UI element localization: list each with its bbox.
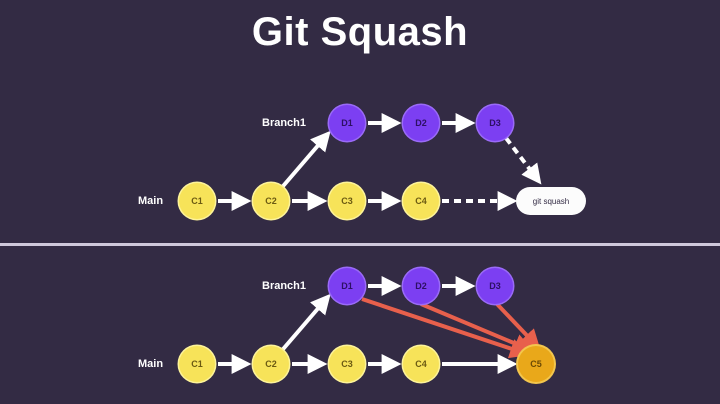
- node-label: D2: [415, 281, 427, 291]
- edge-c2-d1-after: [278, 298, 327, 355]
- edge-c2-d1: [278, 135, 327, 192]
- node-label: D1: [341, 118, 353, 128]
- node-d2-before[interactable]: D2: [403, 105, 439, 141]
- node-c4-before[interactable]: C4: [403, 183, 439, 219]
- panel-before-edges: [0, 80, 720, 243]
- edge-d3-squash: [506, 138, 538, 180]
- node-label: D2: [415, 118, 427, 128]
- node-c5-after[interactable]: C5: [518, 346, 554, 382]
- node-c2-after[interactable]: C2: [253, 346, 289, 382]
- panel-before-squash: Branch1 Main D1 D2 D3 C1 C2 C3 C4 git sq…: [0, 80, 720, 243]
- node-label: C1: [191, 196, 203, 206]
- node-d1-before[interactable]: D1: [329, 105, 365, 141]
- node-d2-after[interactable]: D2: [403, 268, 439, 304]
- node-label: C2: [265, 359, 277, 369]
- main-row-label-after: Main: [138, 358, 163, 370]
- node-label: D3: [489, 118, 501, 128]
- node-d3-after[interactable]: D3: [477, 268, 513, 304]
- panel-divider: [0, 243, 720, 246]
- page-title: Git Squash: [0, 10, 720, 55]
- node-label: C1: [191, 359, 203, 369]
- panel-after-edges: [0, 247, 720, 404]
- node-label: C2: [265, 196, 277, 206]
- main-row-label-before: Main: [138, 195, 163, 207]
- node-label: C3: [341, 359, 353, 369]
- node-c4-after[interactable]: C4: [403, 346, 439, 382]
- node-c1-after[interactable]: C1: [179, 346, 215, 382]
- panel-after-squash: Branch1 Main D1 D2 D3 C1 C2 C3 C4 C5: [0, 247, 720, 404]
- git-squash-callout[interactable]: git squash: [516, 187, 586, 215]
- node-c1-before[interactable]: C1: [179, 183, 215, 219]
- branch-row-label-after: Branch1: [262, 280, 306, 292]
- node-label: D1: [341, 281, 353, 291]
- git-squash-infographic: Git Squash Branch1 Main D1: [0, 0, 720, 404]
- git-squash-callout-label: git squash: [533, 197, 569, 206]
- node-label: D3: [489, 281, 501, 291]
- node-d3-before[interactable]: D3: [477, 105, 513, 141]
- edge-d2-c5-squash: [421, 304, 528, 349]
- node-c3-after[interactable]: C3: [329, 346, 365, 382]
- node-d1-after[interactable]: D1: [329, 268, 365, 304]
- node-label: C5: [530, 359, 542, 369]
- node-c2-before[interactable]: C2: [253, 183, 289, 219]
- node-c3-before[interactable]: C3: [329, 183, 365, 219]
- branch-row-label-before: Branch1: [262, 117, 306, 129]
- node-label: C4: [415, 359, 427, 369]
- node-label: C3: [341, 196, 353, 206]
- node-label: C4: [415, 196, 427, 206]
